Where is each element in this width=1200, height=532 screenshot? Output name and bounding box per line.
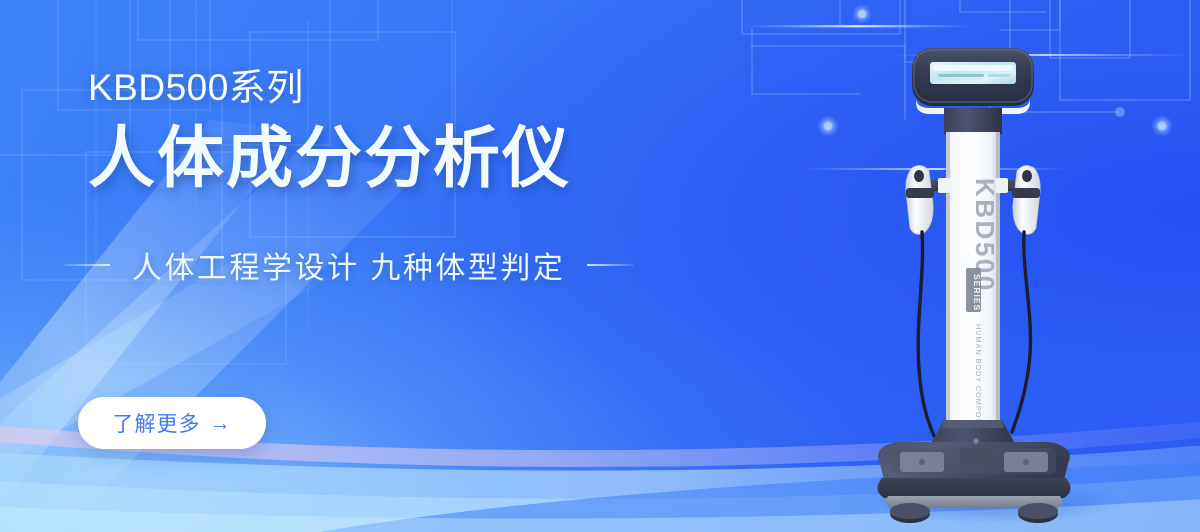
- learn-more-label: 了解更多: [113, 408, 201, 438]
- device-illustration: KBD500 SERIES HUMAN BODY COMPOSITION ANA…: [826, 28, 1146, 532]
- product-image-body-composition-analyzer: KBD500 SERIES HUMAN BODY COMPOSITION ANA…: [826, 28, 1146, 532]
- arrow-right-icon: →: [210, 413, 232, 434]
- page-title: 人体成分分析仪: [88, 123, 728, 195]
- hero-copy: KBD500系列 人体成分分析仪 人体工程学设计 九种体型判定: [88, 68, 728, 287]
- cable-right: [1012, 232, 1030, 432]
- hero-banner: KBD500系列 人体成分分析仪 人体工程学设计 九种体型判定 了解更多 →: [0, 0, 1200, 532]
- product-series-label: KBD500系列: [88, 68, 728, 109]
- hero-subtitle-row: 人体工程学设计 九种体型判定: [64, 243, 728, 287]
- cable-left: [918, 232, 934, 436]
- divider-left: [64, 264, 110, 266]
- hero-subtitle: 人体工程学设计 九种体型判定: [132, 243, 565, 287]
- device-handle-right: [1012, 166, 1040, 432]
- divider-right: [587, 264, 633, 266]
- learn-more-button[interactable]: 了解更多 →: [78, 397, 266, 449]
- device-handle-left: [906, 166, 934, 436]
- device-display: [912, 48, 1034, 114]
- device-base: [877, 420, 1070, 523]
- device-neck: [944, 108, 1002, 134]
- series-badge-text: SERIES: [972, 274, 982, 311]
